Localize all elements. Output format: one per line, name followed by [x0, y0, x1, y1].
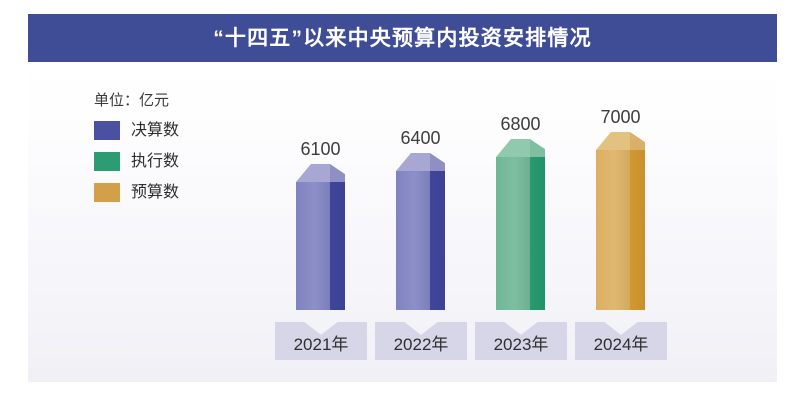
chart-title-bar: “十四五”以来中央预算内投资安排情况	[28, 14, 777, 62]
bar-top-right-facet	[430, 153, 445, 171]
infographic-root: “十四五”以来中央预算内投资安排情况 单位：亿元 决算数 执行数 预算数 610…	[0, 0, 800, 407]
bar-value-label: 6100	[296, 140, 345, 158]
bar-top-left-facet	[596, 132, 630, 150]
bar-column[interactable]	[496, 139, 545, 310]
axis-category-label: 2021年	[294, 336, 349, 353]
bar-value-label: 7000	[596, 108, 645, 126]
bar-top-left-facet	[496, 139, 530, 157]
bar-top-right-facet	[330, 164, 345, 182]
bar-top-right-facet	[530, 139, 545, 157]
axis-category-plate[interactable]: 2022年	[375, 322, 467, 360]
bar-front-face	[496, 157, 530, 310]
bar-top-face	[396, 153, 445, 171]
bar-top-left-facet	[396, 153, 430, 171]
axis-category-label: 2024年	[594, 336, 649, 353]
bar-top-left-facet	[296, 164, 330, 182]
bar-front-face	[296, 182, 330, 310]
chart-panel: 单位：亿元 决算数 执行数 预算数 61002021年64002022年6800…	[28, 62, 777, 382]
bar-value-label: 6800	[496, 115, 545, 133]
bar-group[interactable]: 7000	[596, 132, 645, 310]
axis-category-plate[interactable]: 2024年	[575, 322, 667, 360]
bar-front-face	[396, 171, 430, 310]
bar-top-face	[596, 132, 645, 150]
bar-group[interactable]: 6100	[296, 164, 345, 310]
page-title: “十四五”以来中央预算内投资安排情况	[213, 28, 592, 49]
bar-group[interactable]: 6800	[496, 139, 545, 310]
bar-column[interactable]	[396, 153, 445, 310]
bar-side-face	[430, 171, 445, 310]
bar-side-face	[330, 182, 345, 310]
bar-column[interactable]	[296, 164, 345, 310]
axis-category-plate[interactable]: 2021年	[275, 322, 367, 360]
bar-front-face	[596, 150, 630, 310]
bar-chart-plot: 61002021年64002022年68002023年70002024年	[28, 62, 777, 382]
bar-side-face	[630, 150, 645, 310]
bar-top-right-facet	[630, 132, 645, 150]
bar-group[interactable]: 6400	[396, 153, 445, 310]
bar-top-face	[496, 139, 545, 157]
bar-value-label: 6400	[396, 129, 445, 147]
axis-category-label: 2023年	[494, 336, 549, 353]
axis-category-plate[interactable]: 2023年	[475, 322, 567, 360]
bar-side-face	[530, 157, 545, 310]
bar-column[interactable]	[596, 132, 645, 310]
axis-category-label: 2022年	[394, 336, 449, 353]
bar-top-face	[296, 164, 345, 182]
